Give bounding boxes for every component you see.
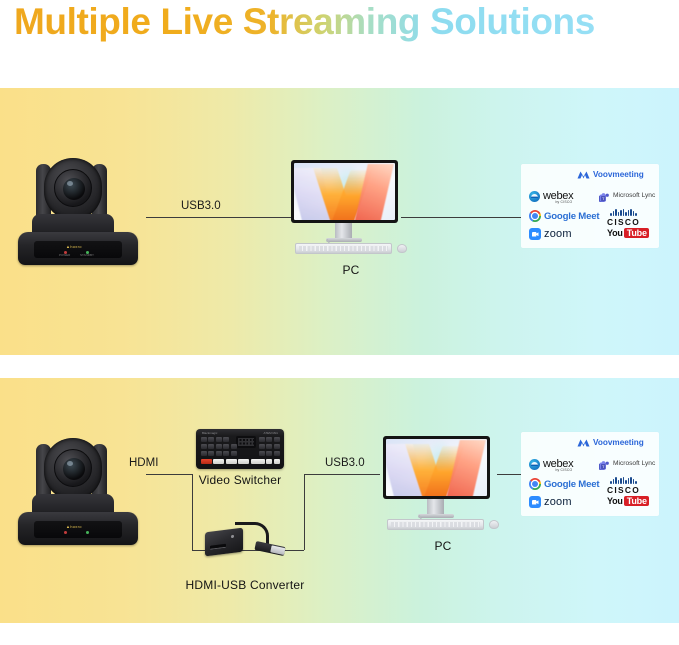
logo-cisco: CISCO	[607, 209, 640, 227]
switcher-key	[231, 451, 237, 456]
switcher-key	[223, 451, 229, 456]
logo-microsoft-lync: T Microsoft Lync	[599, 190, 655, 200]
switcher-key	[259, 451, 265, 456]
wire-label-usb30: USB3.0	[181, 200, 221, 212]
microsoft-lync-label: Microsoft Lync	[613, 460, 655, 467]
youtube-label-tube: Tube	[624, 228, 649, 238]
camera-led-standby-label: STANDBY	[80, 253, 94, 257]
monitor-stand-neck	[335, 223, 352, 239]
camera-head	[44, 438, 102, 500]
video-switcher: Blackmagic ATEM Mini	[196, 429, 284, 469]
webex-icon	[529, 191, 540, 202]
logo-zoom-2: zoom	[529, 496, 572, 508]
keyboard	[387, 519, 484, 530]
voovmeeting-label: Voovmeeting	[593, 438, 644, 447]
switcher-key	[216, 437, 222, 442]
logo-google-meet-2: Google Meet	[529, 478, 599, 490]
webex-icon	[529, 459, 540, 470]
logo-webex-2: webex by CISCO	[529, 458, 573, 470]
switcher-key-row-right-1	[259, 437, 280, 442]
logo-webex: webex by CISCO	[529, 190, 573, 202]
logo-cisco-2: CISCO	[607, 477, 640, 495]
camera-lens	[63, 458, 85, 480]
camera-front-strip: ▲hoxro POWER STANDBY	[34, 241, 122, 258]
platform-logo-panel: Voovmeeting webex by CISCO T	[521, 164, 659, 248]
switcher-key	[208, 451, 214, 456]
switcher-model: ATEM Mini	[264, 431, 278, 435]
cisco-label: CISCO	[607, 217, 640, 227]
switcher-key-row-1	[201, 437, 229, 442]
youtube-label-tube: Tube	[624, 496, 649, 506]
switcher-key	[223, 444, 229, 449]
logo-voovmeeting-2: Voovmeeting	[577, 438, 644, 447]
switcher-key-cut	[201, 459, 212, 464]
mouse	[397, 244, 407, 253]
switcher-key-light	[226, 459, 237, 464]
ptz-camera: ▲hoxro POWER STANDBY	[14, 150, 144, 270]
converter-hdmi-port	[210, 544, 226, 550]
camera-front-strip: ▲hoxro	[34, 521, 122, 538]
camera-led-standby	[86, 531, 89, 534]
wire-pc-to-platforms	[401, 217, 521, 218]
platform-logo-panel-2: Voovmeeting webex by CISCO T	[521, 432, 659, 516]
switcher-key-light	[238, 459, 249, 464]
camera-led-power-label: POWER	[59, 253, 70, 257]
switcher-key-row-2	[201, 444, 237, 449]
switcher-key-light	[274, 459, 280, 464]
switcher-key-light	[213, 459, 224, 464]
caption-hdmi-usb-converter: HDMI-USB Converter	[180, 578, 310, 592]
hdmi-usb-converter	[205, 518, 289, 558]
page-title: Multiple Live Streaming Solutions	[14, 0, 595, 46]
microsoft-lync-icon: T	[599, 190, 610, 200]
wire-to-pc	[304, 474, 380, 475]
microsoft-lync-icon: T	[599, 458, 610, 468]
switcher-key	[208, 437, 214, 442]
google-meet-label: Google Meet	[544, 479, 599, 490]
voovmeeting-label: Voovmeeting	[593, 170, 644, 179]
youtube-label-you: You	[607, 228, 623, 238]
camera-lens-ring	[54, 449, 92, 487]
switcher-key	[274, 437, 280, 442]
youtube-label-you: You	[607, 496, 623, 506]
wire-up-from-converter	[304, 474, 305, 550]
cisco-icon	[610, 209, 636, 216]
google-meet-label: Google Meet	[544, 211, 599, 222]
voovmeeting-icon	[577, 438, 590, 447]
diagram-panel-usb-direct: USB3.0 ▲hoxro POWER STANDBY	[0, 88, 679, 355]
switcher-transition-row-right	[259, 459, 280, 464]
switcher-transition-row	[201, 459, 262, 464]
webex-sublabel: by CISCO	[555, 200, 572, 204]
chrome-icon	[529, 478, 541, 490]
logo-youtube: You Tube	[607, 228, 649, 238]
monitor	[383, 436, 490, 499]
switcher-key	[208, 444, 214, 449]
monitor	[291, 160, 398, 223]
camera-lens	[63, 178, 85, 200]
switcher-key	[259, 437, 265, 442]
converter-usb-plug	[254, 541, 285, 556]
switcher-key	[274, 444, 280, 449]
caption-pc: PC	[291, 263, 411, 277]
zoom-label: zoom	[544, 228, 572, 240]
switcher-key	[266, 451, 272, 456]
camera-brand-logo: ▲hoxro	[66, 244, 82, 249]
switcher-brand: Blackmagic	[202, 431, 217, 435]
cisco-icon	[610, 477, 636, 484]
switcher-key	[216, 451, 222, 456]
switcher-key	[201, 437, 207, 442]
pc-workstation	[291, 160, 411, 260]
switcher-key	[259, 444, 265, 449]
zoom-icon	[529, 496, 541, 508]
camera-brand-logo: ▲hoxro	[66, 524, 82, 529]
zoom-icon	[529, 228, 541, 240]
diagram-panel-switcher-chain: HDMI USB3.0 ▲hoxro Blackmagic ATEM Mini	[0, 378, 679, 623]
converter-led	[231, 535, 234, 538]
wire-camera-to-pc	[146, 217, 292, 218]
chrome-icon	[529, 210, 541, 222]
switcher-key	[201, 444, 207, 449]
switcher-key	[201, 451, 207, 456]
wire-label-usb30-2: USB3.0	[325, 457, 365, 469]
keyboard	[295, 243, 392, 254]
pc-workstation-2	[383, 436, 503, 536]
switcher-key	[266, 444, 272, 449]
switcher-key-row-right-2	[259, 444, 280, 449]
switcher-key-light	[259, 459, 265, 464]
mouse	[489, 520, 499, 529]
switcher-key-light	[266, 459, 272, 464]
camera-base: ▲hoxro POWER STANDBY	[18, 232, 138, 265]
camera-led-power	[64, 531, 67, 534]
switcher-key	[223, 437, 229, 442]
logo-google-meet: Google Meet	[529, 210, 599, 222]
caption-pc-2: PC	[383, 539, 503, 553]
switcher-key	[216, 444, 222, 449]
webex-sublabel: by CISCO	[555, 468, 572, 472]
ptz-camera-2: ▲hoxro	[14, 430, 144, 550]
switcher-key	[274, 451, 280, 456]
switcher-key	[266, 437, 272, 442]
voovmeeting-icon	[577, 170, 590, 179]
cisco-label: CISCO	[607, 485, 640, 495]
camera-lens-ring	[54, 169, 92, 207]
logo-voovmeeting: Voovmeeting	[577, 170, 644, 179]
logo-zoom: zoom	[529, 228, 572, 240]
camera-head	[44, 158, 102, 220]
switcher-key-row-3	[201, 451, 237, 456]
zoom-label: zoom	[544, 496, 572, 508]
monitor-screen	[294, 163, 395, 220]
switcher-pad-grid	[238, 438, 254, 446]
converter-cable	[235, 522, 269, 544]
monitor-stand-neck	[427, 499, 444, 515]
monitor-screen	[386, 439, 487, 496]
switcher-key-row-right-3	[259, 451, 280, 456]
logo-youtube-2: You Tube	[607, 496, 649, 506]
switcher-control-pad	[236, 436, 256, 448]
logo-microsoft-lync-2: T Microsoft Lync	[599, 458, 655, 468]
microsoft-lync-label: Microsoft Lync	[613, 192, 655, 199]
caption-video-switcher: Video Switcher	[180, 473, 300, 487]
camera-base: ▲hoxro	[18, 512, 138, 545]
switcher-key	[231, 444, 237, 449]
